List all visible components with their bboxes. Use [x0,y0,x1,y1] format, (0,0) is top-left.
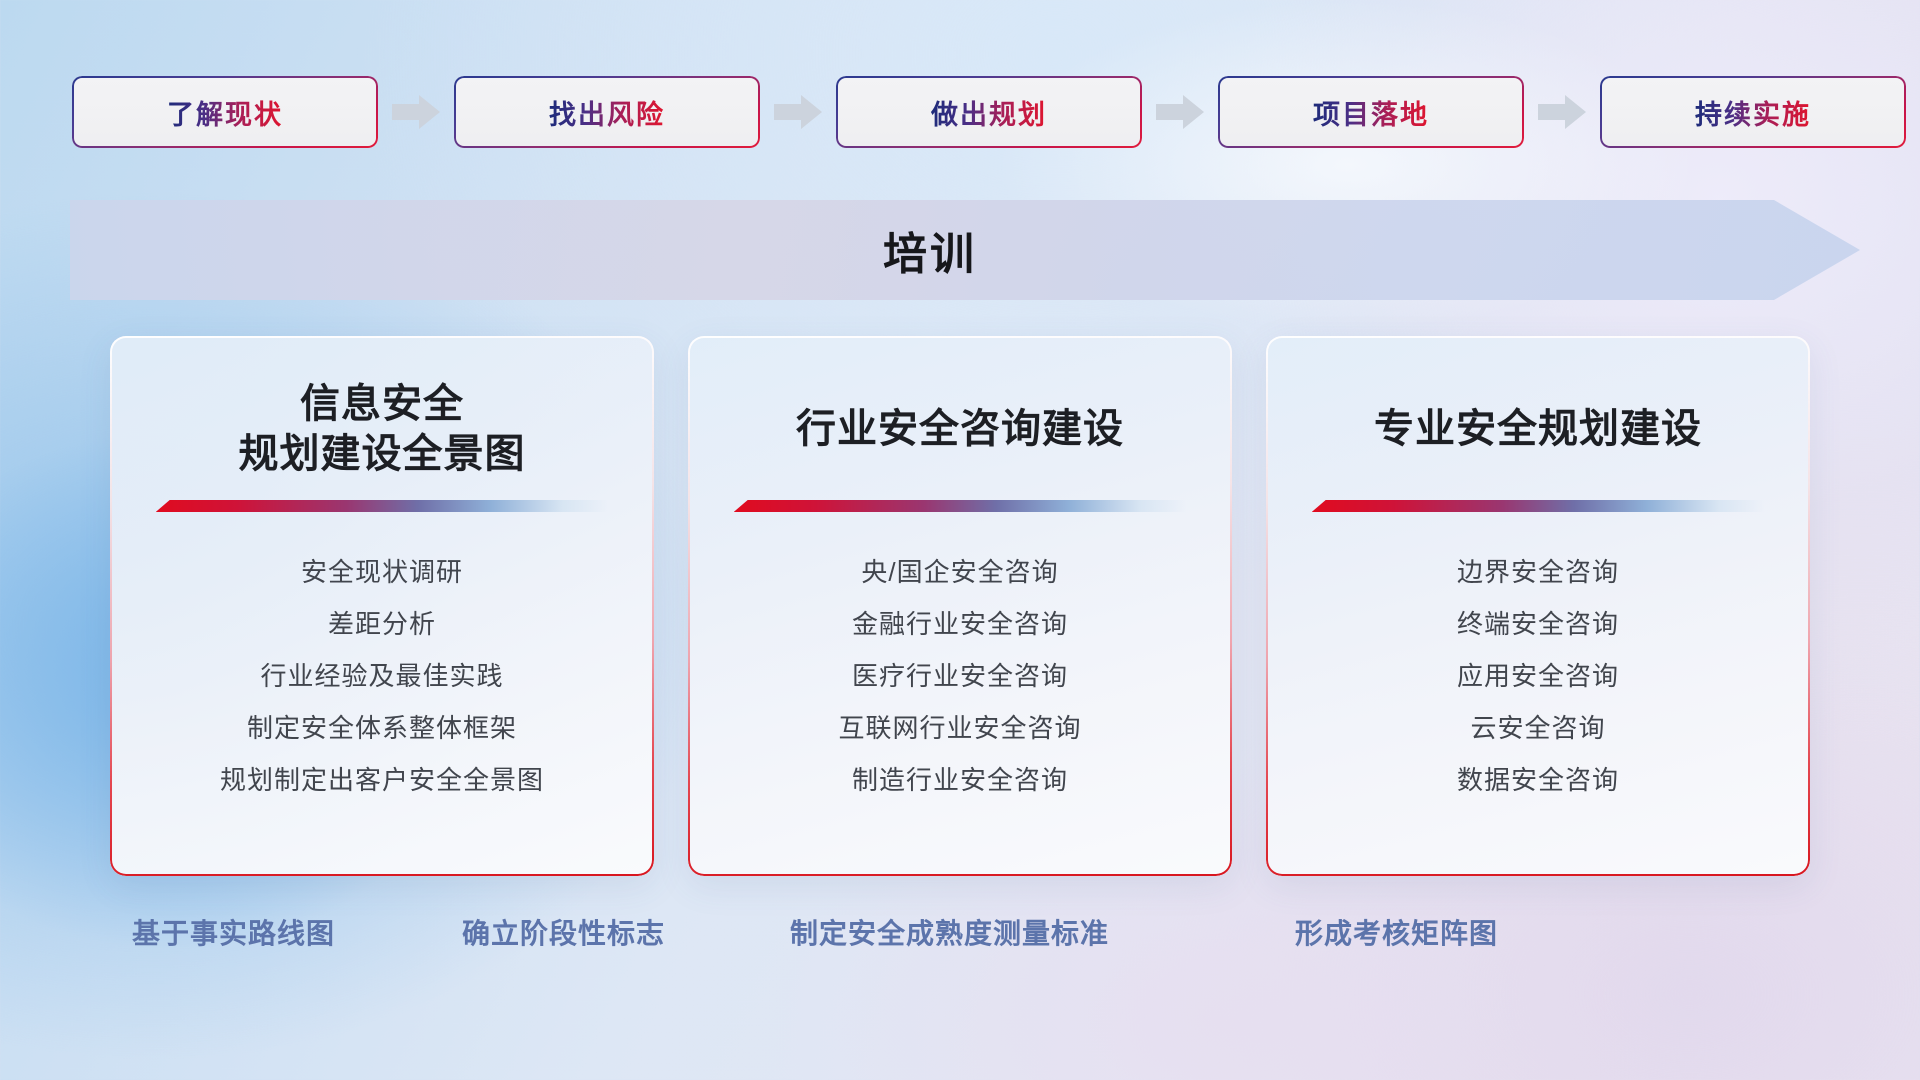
step-box-5[interactable]: 持续实施 [1600,76,1906,148]
training-banner-title: 培训 [70,200,1860,300]
list-item: 边界安全咨询 [1292,546,1784,598]
step-box-2[interactable]: 找出风险 [454,76,760,148]
card-title: 专业安全规划建设 [1374,380,1702,480]
list-item: 终端安全咨询 [1292,598,1784,650]
list-item: 制造行业安全咨询 [714,754,1206,806]
bottom-labels-row: 基于事实路线图 确立阶段性标志 制定安全成熟度测量标准 形成考核矩阵图 [110,912,1810,966]
bottom-label-4: 形成考核矩阵图 [1295,912,1498,952]
step-label: 找出风险 [549,93,665,132]
arrow-right-icon [1156,95,1204,129]
card-2[interactable]: 行业安全咨询建设 央/国企安全咨询 金融行业安全咨询 医疗行业安全咨询 互联网行… [688,336,1232,876]
process-steps-row: 了解现状 找出风险 做出规划 项目落地 持续实施 [72,76,1862,148]
step-label: 持续实施 [1695,93,1811,132]
list-item: 金融行业安全咨询 [714,598,1206,650]
card-divider [156,500,609,512]
list-item: 数据安全咨询 [1292,754,1784,806]
list-item: 互联网行业安全咨询 [714,702,1206,754]
slide-canvas: 了解现状 找出风险 做出规划 项目落地 持续实施 培训 [0,0,1920,1080]
list-item: 制定安全体系整体框架 [136,702,628,754]
list-item: 安全现状调研 [136,546,628,598]
card-item-list: 央/国企安全咨询 金融行业安全咨询 医疗行业安全咨询 互联网行业安全咨询 制造行… [714,546,1206,806]
arrow-right-icon [774,95,822,129]
bottom-label-3: 制定安全成熟度测量标准 [790,912,1109,952]
card-1[interactable]: 信息安全 规划建设全景图 安全现状调研 差距分析 行业经验及最佳实践 制定安全体… [110,336,654,876]
card-divider [1312,500,1765,512]
list-item: 云安全咨询 [1292,702,1784,754]
step-box-3[interactable]: 做出规划 [836,76,1142,148]
card-title: 信息安全 规划建设全景图 [239,380,526,480]
cards-row: 信息安全 规划建设全景图 安全现状调研 差距分析 行业经验及最佳实践 制定安全体… [110,336,1810,876]
step-label: 了解现状 [167,93,283,132]
list-item: 央/国企安全咨询 [714,546,1206,598]
list-item: 应用安全咨询 [1292,650,1784,702]
card-item-list: 边界安全咨询 终端安全咨询 应用安全咨询 云安全咨询 数据安全咨询 [1292,546,1784,806]
step-box-4[interactable]: 项目落地 [1218,76,1524,148]
training-banner: 培训 [70,200,1860,300]
step-label: 项目落地 [1313,93,1429,132]
list-item: 行业经验及最佳实践 [136,650,628,702]
arrow-right-icon [1538,95,1586,129]
step-box-1[interactable]: 了解现状 [72,76,378,148]
card-item-list: 安全现状调研 差距分析 行业经验及最佳实践 制定安全体系整体框架 规划制定出客户… [136,546,628,806]
bottom-label-2: 确立阶段性标志 [462,912,665,952]
list-item: 差距分析 [136,598,628,650]
list-item: 医疗行业安全咨询 [714,650,1206,702]
card-divider [734,500,1187,512]
card-title: 行业安全咨询建设 [796,380,1124,480]
bottom-label-1: 基于事实路线图 [132,912,335,952]
list-item: 规划制定出客户安全全景图 [136,754,628,806]
arrow-right-icon [392,95,440,129]
step-label: 做出规划 [931,93,1047,132]
card-3[interactable]: 专业安全规划建设 边界安全咨询 终端安全咨询 应用安全咨询 云安全咨询 数据安全… [1266,336,1810,876]
